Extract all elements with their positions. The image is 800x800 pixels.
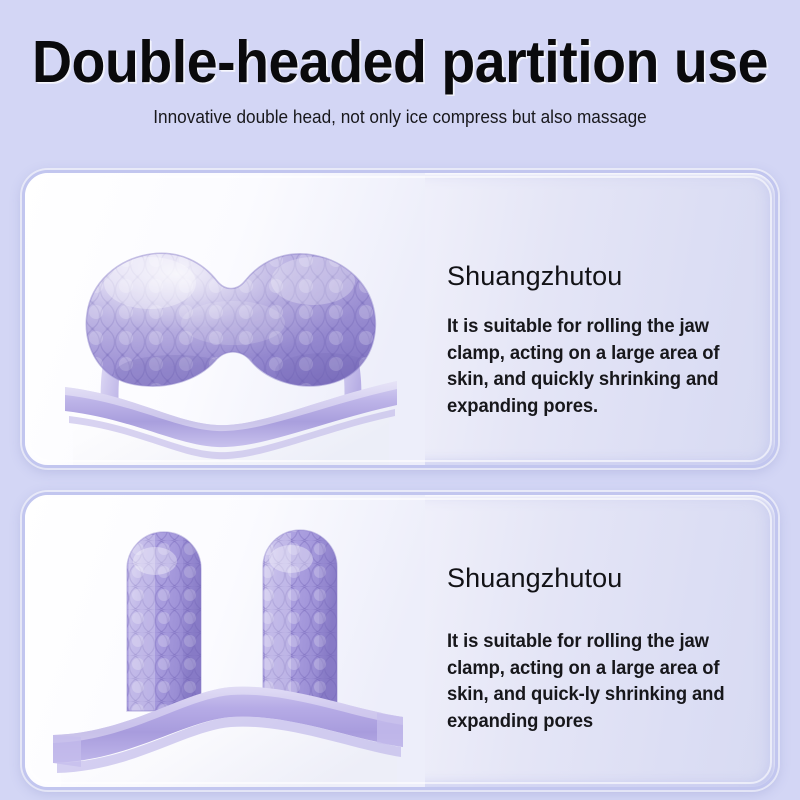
panel-text-block: Shuangzhutou It is suitable for rolling … [425,173,778,465]
twin-prong-head-illustration [25,495,425,787]
header-block: Double-headed partition use Innovative d… [0,0,800,128]
peanut-roller-head-illustration [25,173,425,465]
feature-heading: Shuangzhutou [447,173,763,291]
feature-panel-peanut-head: Shuangzhutou It is suitable for rolling … [22,170,778,468]
feature-panel-twin-prong-head: Shuangzhutou It is suitable for rolling … [22,492,778,790]
page-title: Double-headed partition use [24,0,776,93]
panel-text-block: Shuangzhutou It is suitable for rolling … [425,495,778,787]
feature-description: It is suitable for rolling the jaw clamp… [447,291,754,420]
feature-heading: Shuangzhutou [447,495,763,593]
feature-description: It is suitable for rolling the jaw clamp… [447,593,754,735]
page-subtitle: Innovative double head, not only ice com… [28,93,772,128]
